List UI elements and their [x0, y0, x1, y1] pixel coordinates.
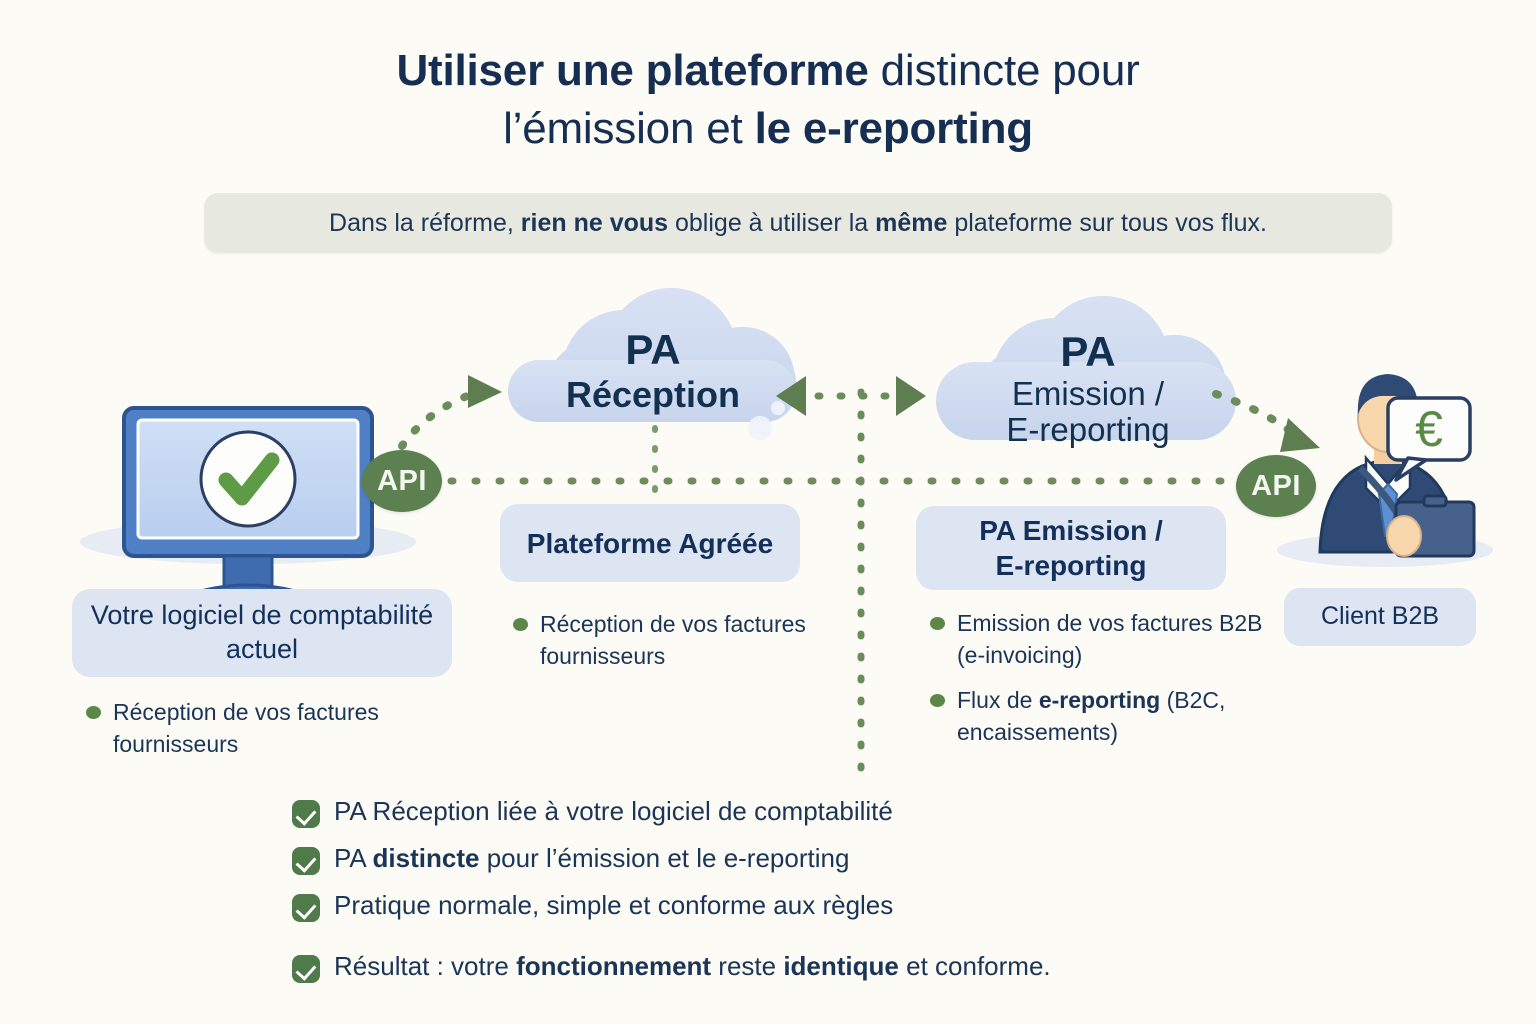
label-plateforme-agreee: Plateforme Agréée	[500, 504, 800, 582]
bullet-text: Réception de vos factures fournisseurs	[540, 609, 813, 672]
list-item: PA distincte pour l’émission et le e-rep…	[292, 842, 1292, 875]
api-badge-left[interactable]: API	[362, 450, 442, 512]
list-item: Emission de vos factures B2B (e-invoicin…	[930, 608, 1292, 671]
bullets-reception: Réception de vos factures fournisseurs	[513, 609, 813, 686]
banner-text-3: plateforme sur tous vos flux.	[947, 209, 1267, 237]
label-software-text: Votre logiciel de comptabilité actuel	[86, 599, 438, 667]
bullet-text: Flux de e-reporting (B2C, encaissements)	[957, 685, 1292, 748]
checklist-text-pre: PA	[334, 843, 373, 873]
list-item: Réception de vos factures fournisseurs	[86, 697, 426, 760]
title-line2-regular: l’émission et	[503, 104, 755, 153]
label-plateforme-agreee-text: Plateforme Agréée	[527, 526, 773, 561]
check-badge-icon	[292, 955, 320, 983]
bullet-dot-icon	[513, 618, 528, 631]
subtitle-banner: Dans la réforme, rien ne vous oblige à u…	[204, 193, 1392, 253]
banner-text-1: Dans la réforme,	[329, 209, 521, 237]
bullet-text-pre: Flux de	[957, 687, 1039, 713]
list-item: Réception de vos factures fournisseurs	[513, 609, 813, 672]
checklist-text-pre: Pratique normale, simple et conforme aux…	[334, 890, 893, 920]
bullet-text-pre: Emission de vos factures B2B (e-invoicin…	[957, 610, 1263, 668]
cloud-emission-line1: PA	[940, 330, 1236, 375]
checklist-text-post: pour l’émission et le e-reporting	[479, 843, 849, 873]
bullet-text-bold: e-reporting	[1039, 687, 1160, 713]
label-client-b2b-text: Client B2B	[1321, 601, 1439, 632]
label-pa-emission-line2: E-reporting	[996, 548, 1147, 583]
page-title: Utiliser une plateforme distincte pour l…	[0, 42, 1536, 158]
list-item: Pratique normale, simple et conforme aux…	[292, 889, 1292, 922]
checklist-text-bold: distincte	[373, 843, 480, 873]
checklist-text: PA Réception liée à votre logiciel de co…	[334, 795, 1292, 828]
checklist-text-pre: Résultat : votre	[334, 951, 516, 981]
check-badge-icon	[292, 847, 320, 875]
banner-bold-2: même	[875, 209, 947, 237]
bullet-text: Réception de vos factures fournisseurs	[113, 697, 426, 760]
arrow-api-to-reception	[402, 375, 502, 446]
checklist-text-pre: PA Réception liée à votre logiciel de co…	[334, 796, 893, 826]
label-client-b2b: Client B2B	[1284, 588, 1476, 646]
label-pa-emission-line1: PA Emission /	[979, 513, 1163, 548]
list-item: Résultat : votre fonctionnement reste id…	[292, 950, 1292, 983]
banner-text-2: oblige à utiliser la	[668, 209, 875, 237]
checklist-text-post2: et conforme.	[899, 951, 1051, 981]
svg-text:€: €	[1415, 401, 1443, 457]
cloud-emission-line2: Emission /	[940, 377, 1236, 412]
infographic-canvas: Utiliser une plateforme distincte pour l…	[0, 0, 1536, 1024]
bullet-dot-icon	[86, 706, 101, 719]
list-item: PA Réception liée à votre logiciel de co…	[292, 795, 1292, 828]
check-badge-icon	[292, 800, 320, 828]
bullets-emission: Emission de vos factures B2B (e-invoicin…	[930, 608, 1292, 763]
cloud-reception-text: PA Réception	[508, 328, 798, 414]
checklist-text-post: reste	[711, 951, 783, 981]
checklist-text-bold: fonctionnement	[516, 951, 711, 981]
list-item: Flux de e-reporting (B2C, encaissements)	[930, 685, 1292, 748]
api-badge-right-label: API	[1251, 470, 1301, 503]
cloud-emission-line3: E-reporting	[940, 413, 1236, 448]
checklist-text: Résultat : votre fonctionnement reste id…	[334, 950, 1292, 983]
label-software: Votre logiciel de comptabilité actuel	[72, 589, 452, 677]
api-badge-left-label: API	[377, 465, 427, 498]
label-pa-emission: PA Emission / E-reporting	[916, 506, 1226, 590]
title-line2-bold: le e-reporting	[755, 104, 1033, 153]
bullet-text: Emission de vos factures B2B (e-invoicin…	[957, 608, 1292, 671]
api-badge-right[interactable]: API	[1236, 455, 1316, 517]
checklist-text: Pratique normale, simple et conforme aux…	[334, 889, 1292, 922]
title-line1-bold: Utiliser une plateforme	[396, 46, 868, 95]
title-line1-regular: distincte pour	[869, 46, 1140, 95]
monitor-illustration	[80, 408, 416, 596]
checklist: PA Réception liée à votre logiciel de co…	[292, 795, 1292, 997]
cloud-reception-line2: Réception	[508, 376, 798, 414]
banner-bold-1: rien ne vous	[521, 209, 668, 237]
bullet-dot-icon	[930, 694, 945, 707]
bullets-software: Réception de vos factures fournisseurs	[86, 697, 426, 774]
cloud-reception-line1: PA	[508, 328, 798, 372]
checklist-text: PA distincte pour l’émission et le e-rep…	[334, 842, 1292, 875]
checklist-text-bold2: identique	[783, 951, 899, 981]
check-badge-icon	[292, 894, 320, 922]
arrow-center-right	[896, 376, 926, 416]
cloud-emission-text: PA Emission / E-reporting	[940, 330, 1236, 448]
bullet-dot-icon	[930, 617, 945, 630]
